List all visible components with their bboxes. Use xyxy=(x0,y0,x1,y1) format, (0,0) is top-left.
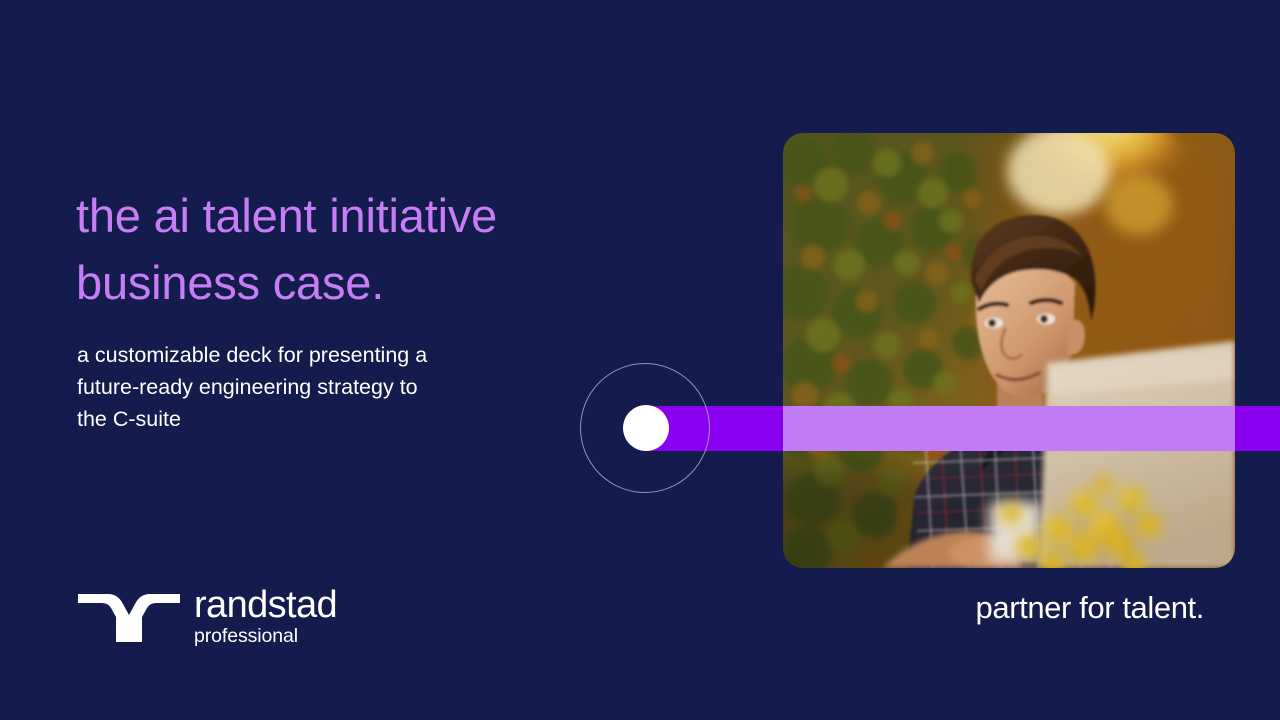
hero-photo xyxy=(783,133,1235,568)
hero-photo-illustration xyxy=(783,133,1235,568)
accent-bar-right xyxy=(1235,406,1280,451)
randstad-wordmark: randstad professional xyxy=(194,586,337,647)
randstad-logo: randstad professional xyxy=(78,590,337,647)
randstad-name: randstad xyxy=(194,586,337,624)
white-dot-icon xyxy=(623,405,669,451)
slide-subtitle: a customizable deck for presenting a fut… xyxy=(77,339,532,435)
slide-headline: the ai talent initiative business case. xyxy=(76,182,676,316)
brand-tagline: partner for talent. xyxy=(976,590,1204,626)
randstad-sub: professional xyxy=(194,627,337,647)
accent-bar-overlay xyxy=(783,406,1235,451)
randstad-mark-icon xyxy=(78,590,180,642)
slide-canvas: the ai talent initiative business case. … xyxy=(0,0,1280,720)
